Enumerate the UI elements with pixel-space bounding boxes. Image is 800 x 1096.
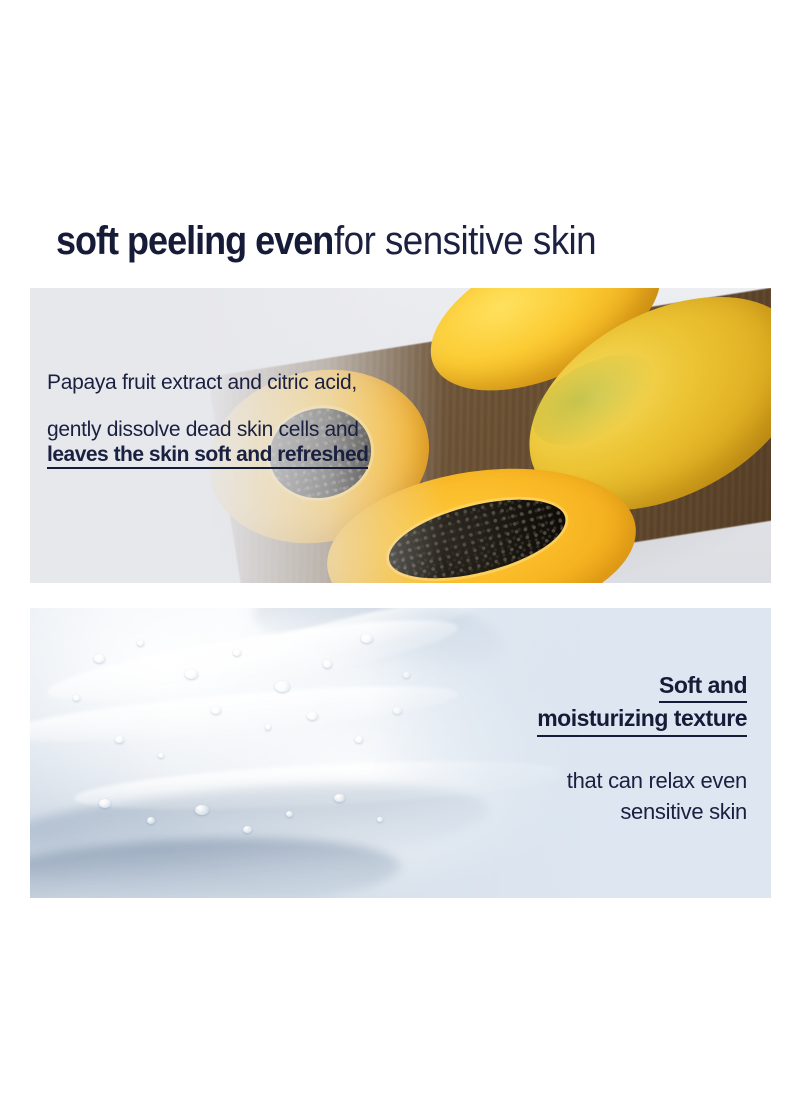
page-headline: soft peeling evenfor sensitive skin	[56, 214, 756, 268]
product-detail-page: soft peeling evenfor sensitive skin	[0, 0, 800, 1096]
gel-copy-sub: that can relax even sensitive skin	[327, 765, 747, 827]
gel-bubble	[243, 826, 252, 833]
gel-bubble	[158, 753, 164, 758]
gel-bubble	[265, 724, 271, 730]
gel-bubble	[233, 649, 241, 656]
headline-light-text: for sensitive skin	[334, 214, 596, 268]
gel-bubble	[275, 681, 290, 692]
gel-copy-emphasis-line-1: Soft and	[327, 670, 747, 703]
papaya-benefit-panel: Papaya fruit extract and citric acid, ge…	[30, 288, 771, 583]
gel-bubble	[286, 811, 293, 817]
gel-texture-panel: Soft and moisturizing texture that can r…	[30, 608, 771, 898]
gel-bubble	[115, 736, 124, 743]
gel-bubble	[185, 669, 198, 679]
gel-bubble	[99, 799, 111, 808]
papaya-copy-block: Papaya fruit extract and citric acid, ge…	[47, 372, 467, 469]
gel-bubble	[94, 654, 105, 663]
gel-copy-emphasis-line-2: moisturizing texture	[327, 703, 747, 736]
papaya-copy-line-2: gently dissolve dead skin cells and	[47, 419, 467, 440]
papaya-copy-line-1: Papaya fruit extract and citric acid,	[47, 372, 467, 393]
gel-bubble	[195, 805, 209, 815]
headline-strong-text: soft peeling even	[56, 214, 333, 268]
gel-bubble	[137, 640, 144, 646]
gel-bubble	[211, 707, 221, 714]
gel-copy-sub-line-2: sensitive skin	[327, 796, 747, 827]
gel-bubble	[147, 817, 155, 824]
gel-copy-sub-line-1: that can relax even	[327, 765, 747, 796]
gel-bubble	[73, 695, 80, 701]
gel-bubble	[307, 712, 318, 720]
gel-copy-block: Soft and moisturizing texture that can r…	[327, 670, 747, 827]
papaya-copy-emphasis: leaves the skin soft and refreshed	[47, 444, 368, 469]
gel-bubble	[323, 660, 332, 668]
